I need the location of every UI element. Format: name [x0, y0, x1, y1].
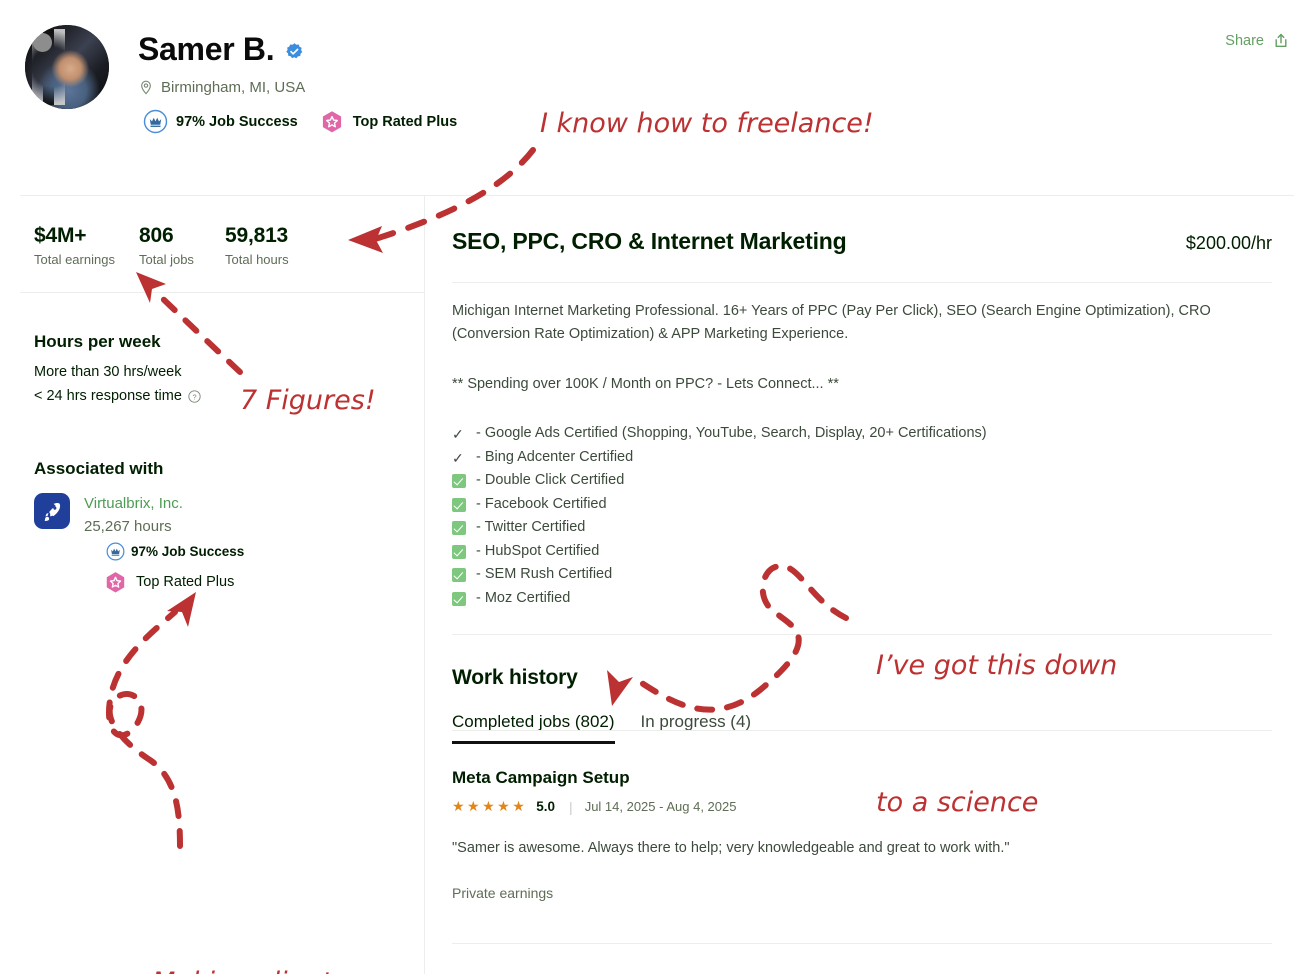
certifications-list: ✓ - Google Ads Certified (Shopping, YouT… [452, 422, 1242, 610]
green-checkbox-icon [452, 469, 471, 493]
certification-label: - Facebook Certified [471, 493, 607, 516]
job-header-divider [452, 282, 1272, 283]
page-title: Samer B. [138, 32, 274, 67]
map-pin-icon [138, 79, 154, 96]
certification-item: - Double Click Certified [452, 469, 1242, 493]
job-success-badge[interactable]: 97% Job Success [143, 109, 298, 134]
share-label: Share [1225, 33, 1264, 49]
check-mark-icon: ✓ [452, 422, 471, 446]
badges-row: 97% Job Success Top Rated Plus [143, 109, 457, 134]
work-history-title: Work history [452, 666, 1272, 690]
profile-page: Samer B. Birmingham, MI, USA [0, 0, 1314, 974]
share-upload-icon [1272, 32, 1290, 50]
stat-total-earnings: $4M+ Total earnings [34, 224, 139, 267]
job-rate: $200.00/hr [1186, 233, 1272, 254]
column-divider [424, 196, 425, 974]
avatar-photo-highlight [33, 33, 52, 52]
agency-row: Virtualbrix, Inc. 25,267 hours 97% Job S… [34, 493, 244, 594]
star-hexagon-icon [104, 571, 127, 594]
job-header: SEO, PPC, CRO & Internet Marketing $200.… [452, 196, 1272, 255]
left-sidebar: $4M+ Total earnings 806 Total jobs 59,81… [0, 196, 424, 267]
work-item-dates: Jul 14, 2025 - Aug 4, 2025 [585, 799, 737, 814]
stat-value: 806 [139, 224, 225, 248]
name-row: Samer B. [138, 32, 457, 67]
agency-job-success-badge[interactable]: 97% Job Success [106, 542, 244, 561]
stats-row: $4M+ Total earnings 806 Total jobs 59,81… [0, 196, 424, 267]
description-paragraph-1: Michigan Internet Marketing Professional… [452, 300, 1242, 347]
work-item-earnings: Private earnings [452, 885, 1272, 901]
rating-value: 5.0 [536, 799, 555, 814]
annotation-happy-clients-line1: Making clients [152, 958, 346, 974]
arrow-to-top-rated-plus [109, 592, 196, 846]
tabs-divider [452, 730, 1272, 731]
work-item-rating-row: ★★★★★ 5.0 | Jul 14, 2025 - Aug 4, 2025 [452, 798, 1272, 815]
check-mark-icon: ✓ [452, 446, 471, 470]
certification-item: - HubSpot Certified [452, 540, 1242, 564]
certification-item: - Moz Certified [452, 587, 1242, 611]
certification-label: - HubSpot Certified [471, 540, 599, 563]
stat-label: Total hours [225, 252, 345, 267]
description-spacer [452, 347, 1242, 373]
work-history-section: Work history Completed jobs (802) In pro… [452, 666, 1272, 744]
agency-top-rated-label: Top Rated Plus [136, 574, 234, 590]
agency-hours: 25,267 hours [84, 518, 244, 535]
identity-block: Samer B. Birmingham, MI, USA [138, 32, 457, 134]
associated-with-section: Associated with Virtualbrix, Inc. 25,267… [34, 459, 244, 594]
certification-item: - SEM Rush Certified [452, 563, 1242, 587]
tab-completed-jobs[interactable]: Completed jobs (802) [452, 712, 615, 744]
green-checkbox-icon [452, 563, 471, 587]
avatar-photo[interactable] [25, 25, 109, 109]
work-item-review: "Samer is awesome. Always there to help;… [452, 837, 1272, 859]
green-checkbox-icon [452, 587, 471, 611]
stat-value: 59,813 [225, 224, 345, 248]
certification-item: ✓ - Bing Adcenter Certified [452, 446, 1242, 470]
job-title: SEO, PPC, CRO & Internet Marketing [452, 228, 847, 255]
question-mark-circle-icon[interactable]: ? [188, 390, 201, 403]
agency-top-rated-badge[interactable]: Top Rated Plus [104, 571, 244, 594]
agency-name-link[interactable]: Virtualbrix, Inc. [84, 494, 244, 514]
green-checkbox-icon [452, 493, 471, 517]
response-time-text: < 24 hrs response time [34, 388, 182, 404]
agency-info: Virtualbrix, Inc. 25,267 hours 97% Job S… [84, 493, 244, 594]
stat-total-jobs: 806 Total jobs [139, 224, 225, 267]
work-item-divider [452, 943, 1272, 944]
description-paragraph-2: ** Spending over 100K / Month on PPC? - … [452, 373, 1242, 396]
green-checkbox-icon [452, 540, 471, 564]
star-hexagon-icon [320, 110, 344, 134]
certification-item: - Twitter Certified [452, 516, 1242, 540]
certification-item: ✓ - Google Ads Certified (Shopping, YouT… [452, 422, 1242, 446]
annotation-seven-figures: 7 Figures! [240, 385, 376, 416]
stat-value: $4M+ [34, 224, 139, 248]
work-item-title[interactable]: Meta Campaign Setup [452, 768, 1272, 788]
main-content: SEO, PPC, CRO & Internet Marketing $200.… [452, 196, 1272, 255]
stat-total-hours: 59,813 Total hours [225, 224, 345, 267]
location-text: Birmingham, MI, USA [161, 79, 305, 96]
crown-badge-icon [106, 542, 125, 561]
response-time-row: < 24 hrs response time ? [34, 388, 201, 404]
certification-label: - Google Ads Certified (Shopping, YouTub… [471, 422, 987, 445]
job-description: Michigan Internet Marketing Professional… [452, 300, 1242, 610]
stats-divider [20, 292, 424, 293]
agency-job-success-label: 97% Job Success [131, 544, 244, 559]
annotation-happy-clients: Making clients happy! [152, 858, 346, 974]
certification-label: - Twitter Certified [471, 516, 585, 539]
rocket-icon [34, 493, 70, 529]
stat-label: Total jobs [139, 252, 225, 267]
hours-per-week-section: Hours per week More than 30 hrs/week < 2… [34, 332, 201, 404]
verified-badge-icon [285, 42, 304, 61]
work-history-item: Meta Campaign Setup ★★★★★ 5.0 | Jul 14, … [452, 768, 1272, 901]
availability-text: More than 30 hrs/week [34, 364, 201, 380]
share-button[interactable]: Share [1225, 32, 1290, 50]
svg-text:?: ? [192, 392, 196, 401]
crown-badge-icon [143, 109, 168, 134]
green-checkbox-icon [452, 516, 471, 540]
profile-header: Samer B. Birmingham, MI, USA [0, 0, 1314, 195]
stat-label: Total earnings [34, 252, 139, 267]
separator: | [569, 799, 573, 815]
associated-with-title: Associated with [34, 459, 244, 479]
certification-label: - Double Click Certified [471, 469, 624, 492]
certification-item: - Facebook Certified [452, 493, 1242, 517]
top-rated-plus-label: Top Rated Plus [353, 114, 457, 130]
hours-per-week-title: Hours per week [34, 332, 201, 352]
location-row: Birmingham, MI, USA [138, 79, 457, 96]
description-divider [452, 634, 1272, 635]
star-rating-icon: ★★★★★ [452, 798, 527, 815]
top-rated-plus-badge[interactable]: Top Rated Plus [320, 110, 457, 134]
certification-label: - Moz Certified [471, 587, 570, 610]
job-success-label: 97% Job Success [176, 114, 298, 130]
certification-label: - Bing Adcenter Certified [471, 446, 633, 469]
work-history-tabs: Completed jobs (802) In progress (4) [452, 712, 1272, 744]
avatar[interactable] [25, 25, 109, 109]
tab-in-progress[interactable]: In progress (4) [641, 712, 752, 744]
certification-label: - SEM Rush Certified [471, 563, 612, 586]
